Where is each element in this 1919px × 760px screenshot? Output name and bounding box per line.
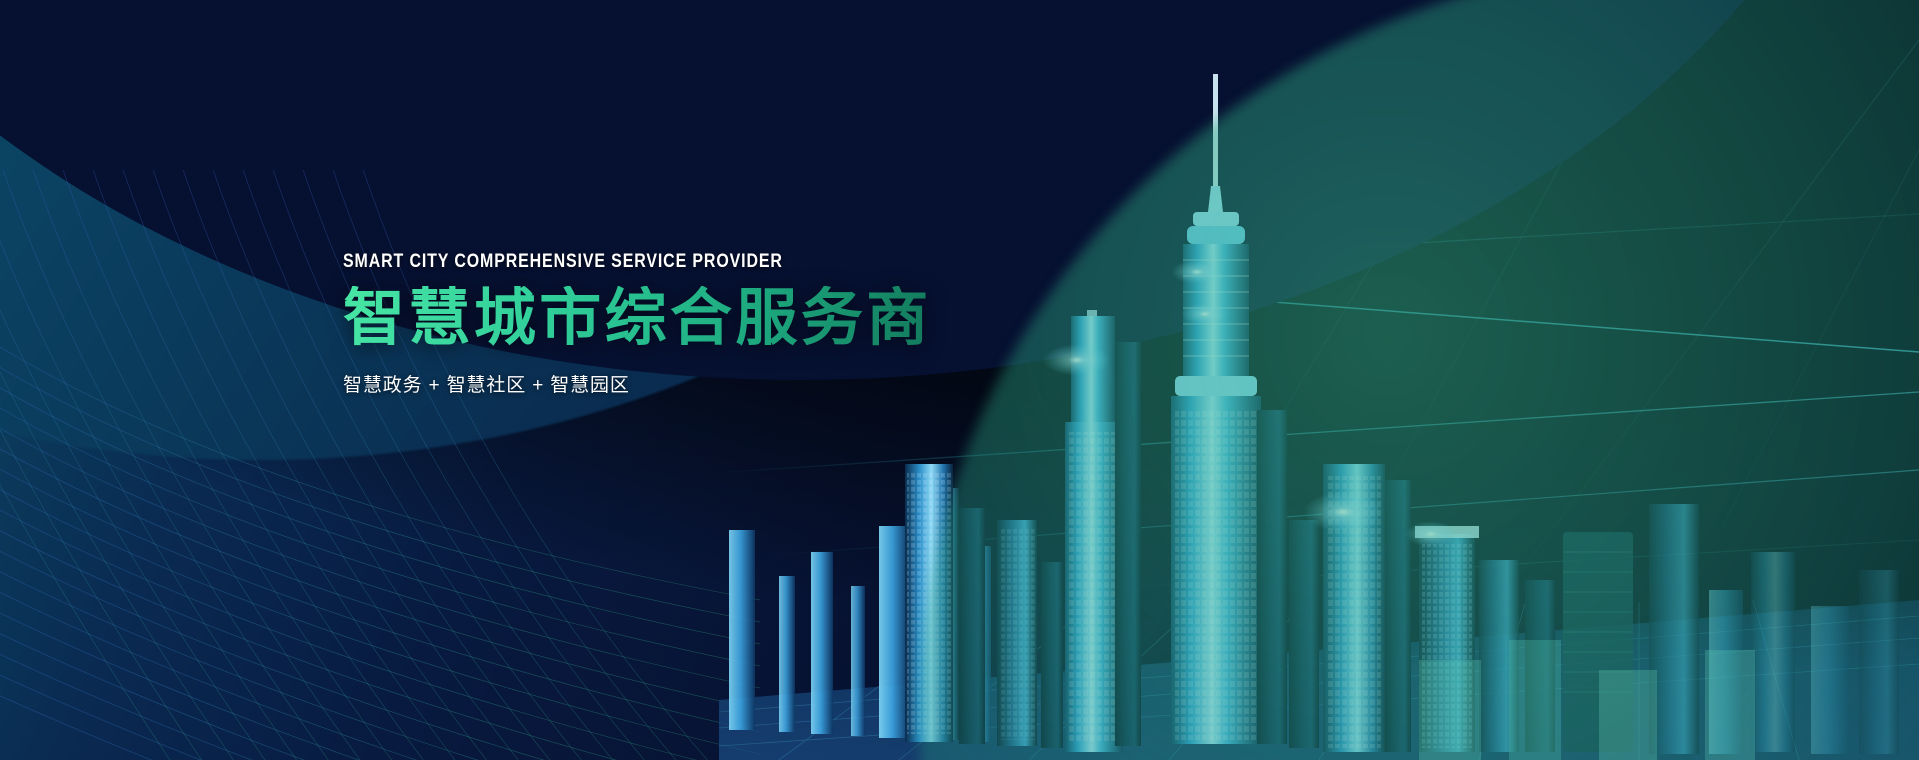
hero-subline: 智慧政务 + 智慧社区 + 智慧园区 <box>343 370 932 397</box>
hero-headline: 智慧城市综合服务商 <box>343 286 932 353</box>
hero-copy: SMART CITY COMPREHENSIVE SERVICE PROVIDE… <box>343 252 932 397</box>
hero-banner: SMART CITY COMPREHENSIVE SERVICE PROVIDE… <box>0 0 1919 760</box>
hero-eyebrow: SMART CITY COMPREHENSIVE SERVICE PROVIDE… <box>343 252 838 271</box>
